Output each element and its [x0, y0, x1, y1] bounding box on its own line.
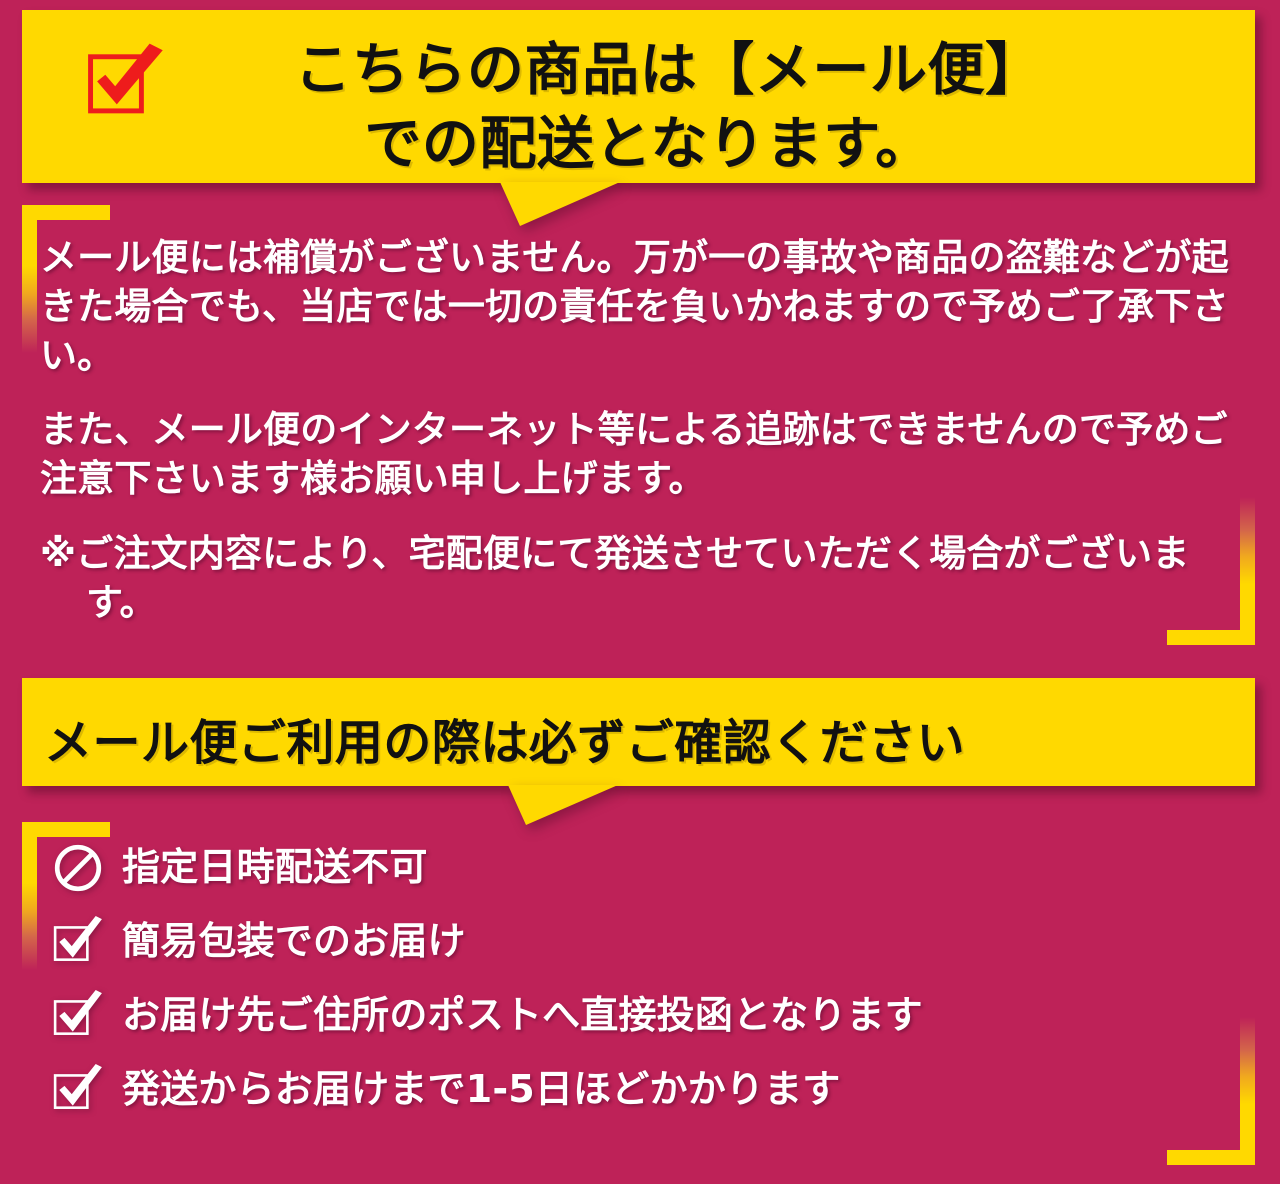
- bracket-vertical-arm: [22, 822, 37, 1007]
- secondary-banner-title: メール便ご利用の際は必ずご確認ください: [44, 703, 965, 773]
- prohibited-icon: [52, 842, 104, 894]
- notice-paragraph-1: メール便には補償がございません。万が一の事故や商品の盗難などが起きた場合でも、当…: [40, 234, 1240, 380]
- notice-text-block: メール便には補償がございません。万が一の事故や商品の盗難などが起きた場合でも、当…: [40, 234, 1240, 654]
- bracket-horizontal-arm: [1167, 1150, 1255, 1165]
- checked-checkbox-icon: [52, 1064, 104, 1116]
- list-item: 指定日時配送不可: [52, 842, 1202, 894]
- header-banner: こちらの商品は【メール便】 での配送となります。: [22, 10, 1255, 183]
- secondary-banner-tail: [508, 785, 618, 825]
- checked-checkbox-icon: [52, 990, 104, 1042]
- secondary-banner: メール便ご利用の際は必ずご確認ください: [22, 678, 1255, 786]
- list-item: お届け先ご住所のポストへ直接投函となります: [52, 990, 1202, 1042]
- bracket-vertical-arm: [1240, 980, 1255, 1165]
- checklist: 指定日時配送不可 簡易包装でのお届け お届け先ご住所のポストへ直接投函となります: [52, 842, 1202, 1138]
- list-item: 発送からお届けまで1-5日ほどかかります: [52, 1064, 1202, 1116]
- header-banner-tail: [500, 182, 620, 226]
- bracket-vertical-arm: [1240, 460, 1255, 645]
- list-item-label: 簡易包装でのお届け: [122, 921, 466, 963]
- notice-paragraph-3: ※ご注文内容により、宅配便にて発送させていただく場合がございます。: [40, 530, 1240, 628]
- notice-paragraph-2: また、メール便のインターネット等による追跡はできませんので予めご注意下さいます様…: [40, 406, 1240, 504]
- header-title-line-2: での配送となります。: [22, 98, 1255, 180]
- list-item: 簡易包装でのお届け: [52, 916, 1202, 968]
- list-item-label: 発送からお届けまで1-5日ほどかかります: [122, 1069, 840, 1111]
- list-item-label: 指定日時配送不可: [122, 847, 428, 889]
- list-item-label: お届け先ご住所のポストへ直接投函となります: [122, 995, 923, 1037]
- bracket-vertical-arm: [22, 205, 37, 390]
- bracket-horizontal-arm: [22, 205, 110, 220]
- bracket-horizontal-arm: [22, 822, 110, 837]
- header-title-line-1: こちらの商品は【メール便】: [22, 24, 1255, 106]
- checked-checkbox-icon: [52, 916, 104, 968]
